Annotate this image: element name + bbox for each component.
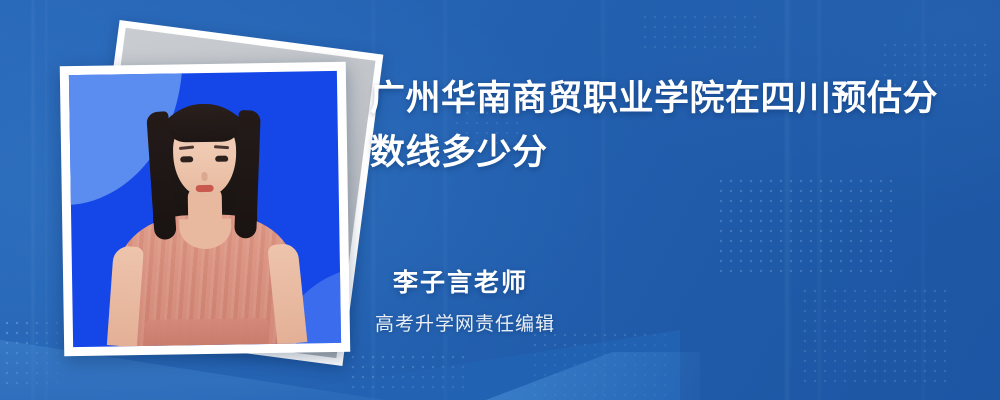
portrait-nose xyxy=(201,172,207,181)
author-name: 李子言老师 xyxy=(370,266,970,300)
banner-headline: 广州华南商贸职业学院在四川预估分数线多少分 xyxy=(370,72,970,180)
author-role: 高考升学网责任编辑 xyxy=(370,310,970,340)
photo-card-front xyxy=(60,62,351,356)
portrait-dress-waist xyxy=(145,318,269,346)
portrait-eye-right xyxy=(215,156,228,162)
portrait-eye-left xyxy=(180,156,193,162)
author-portrait-photo xyxy=(69,71,341,347)
portrait-figure xyxy=(69,71,341,347)
photo-card-stack xyxy=(46,28,346,358)
portrait-hair-front xyxy=(168,104,239,143)
banner-image: 广州华南商贸职业学院在四川预估分数线多少分 李子言老师 高考升学网责任编辑 xyxy=(0,0,1000,400)
banner-text-block: 广州华南商贸职业学院在四川预估分数线多少分 李子言老师 高考升学网责任编辑 xyxy=(370,0,982,400)
author-byline: 李子言老师 高考升学网责任编辑 xyxy=(370,266,970,340)
portrait-lips xyxy=(196,185,214,192)
